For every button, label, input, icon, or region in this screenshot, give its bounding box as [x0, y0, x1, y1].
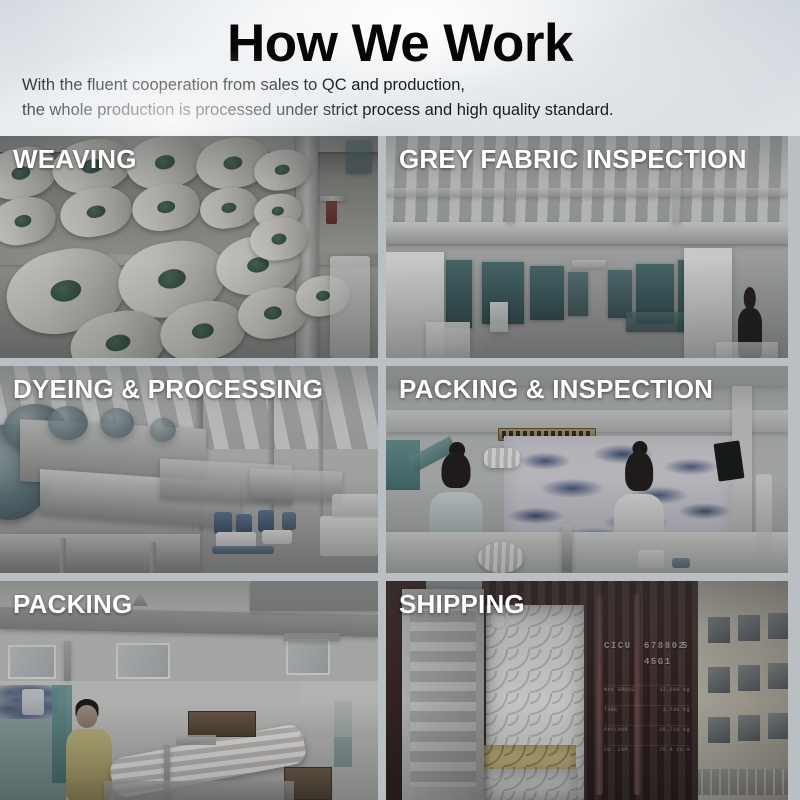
grid-gutter-vertical-row1	[378, 136, 386, 358]
container-door-left	[402, 589, 484, 800]
subtitle-line-2: the whole production is processed under …	[22, 99, 782, 122]
grid-gutter-horizontal-2a	[0, 573, 378, 581]
container-type-code: 45G1	[644, 657, 672, 667]
spec-value-max-gross: 32,500 kg	[659, 687, 690, 693]
worker-left	[434, 458, 478, 538]
grid-gutter-horizontal-2d	[788, 573, 800, 581]
spec-value-cu-cap: 76.4 cu.m	[659, 747, 690, 753]
page-header: How We Work With the fluent cooperation …	[0, 0, 800, 136]
spec-label-cu-cap: CU. CAP.	[604, 747, 631, 753]
tile-label-packing-inspection: PACKING & INSPECTION	[399, 374, 713, 405]
tile-label-dyeing-processing: DYEING & PROCESSING	[13, 374, 323, 405]
grid-gutter-horizontal-2b	[378, 573, 386, 581]
container-check-digit: 5	[682, 641, 689, 651]
tile-shipping[interactable]: CICU 678802 5 45G1 MAX GROSS 32,500 kg T…	[386, 581, 788, 800]
spec-value-payload: 28,710 kg	[659, 727, 690, 733]
how-we-work-page: How We Work With the fluent cooperation …	[0, 0, 800, 800]
grid-gutter-horizontal-1d	[788, 358, 800, 366]
tile-label-shipping: SHIPPING	[399, 589, 525, 620]
spec-label-tare: TARE	[604, 707, 618, 713]
grid-margin-right-row1	[788, 136, 800, 358]
process-grid: WEAVING	[0, 136, 800, 800]
grid-gutter-horizontal-1c	[386, 358, 788, 366]
container-owner-code: CICU	[604, 641, 632, 651]
grid-margin-right-row2	[788, 366, 800, 573]
grid-gutter-vertical-row3	[378, 581, 386, 800]
grid-margin-right-row3	[788, 581, 800, 800]
grid-gutter-horizontal-1a	[0, 358, 378, 366]
spec-value-tare: 3,790 kg	[663, 707, 690, 713]
spec-label-payload: PAYLOAD	[604, 727, 628, 733]
grid-gutter-vertical-row2	[378, 366, 386, 573]
tile-grey-fabric-inspection[interactable]: GREY FABRIC INSPECTION	[386, 136, 788, 358]
tile-label-packing: PACKING	[13, 589, 132, 620]
spec-label-max-gross: MAX GROSS	[604, 687, 635, 693]
tile-packing[interactable]: PACKING	[0, 581, 378, 800]
tile-weaving[interactable]: WEAVING	[0, 136, 378, 358]
container-serial: 678802	[644, 641, 685, 651]
tile-dyeing-processing[interactable]: DYEING & PROCESSING	[0, 366, 378, 573]
grid-gutter-horizontal-2c	[386, 573, 788, 581]
tile-label-weaving: WEAVING	[13, 144, 137, 175]
tile-packing-inspection[interactable]: PACKING & INSPECTION	[386, 366, 788, 573]
tile-label-grey-fabric-inspection: GREY FABRIC INSPECTION	[399, 144, 747, 175]
page-title: How We Work	[0, 16, 800, 72]
subtitle-line-1: With the fluent cooperation from sales t…	[22, 74, 782, 97]
grid-gutter-horizontal-1b	[378, 358, 386, 366]
